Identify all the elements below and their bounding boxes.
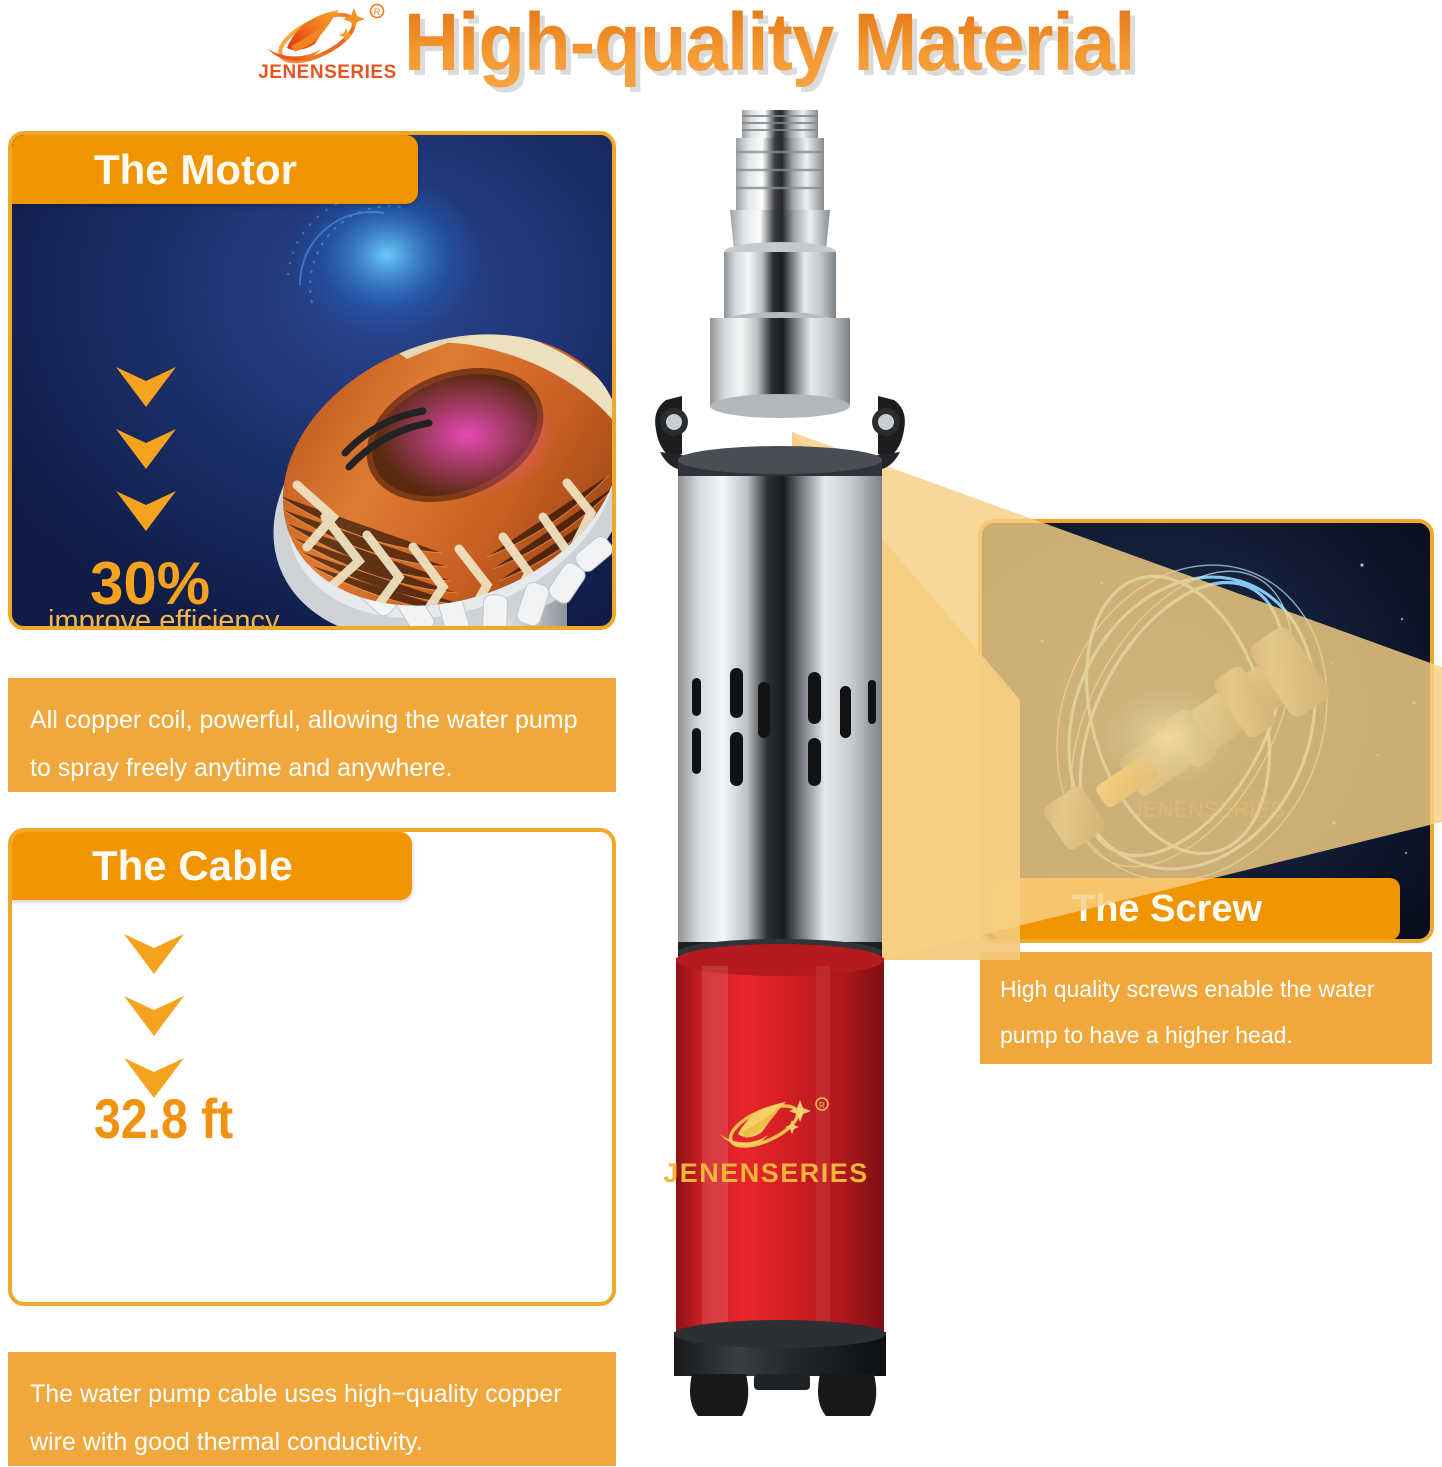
trademark-symbol: R [374, 7, 381, 17]
product-infographic: R JENENSERIES High-quality Material High… [0, 0, 1442, 1467]
caption-motor: All copper coil, powerful, allowing the … [8, 678, 616, 792]
black-base-feet [674, 1320, 886, 1416]
outlet-collar [710, 242, 850, 418]
panel-label-motor: The Motor [12, 135, 418, 204]
page-title: High-quality Material [404, 0, 1134, 90]
chevron-down-icon [114, 487, 178, 535]
product-pump-image: R JENENSERIES [630, 100, 980, 1430]
chevron-down-icon [114, 425, 178, 473]
panel-label-cable: The Cable [12, 832, 412, 900]
panel-cable: 32.8 ft The Cable [8, 828, 616, 1306]
svg-text:R: R [819, 1101, 825, 1110]
motor-stat-sublabel: improve efficiency [48, 605, 280, 630]
panel-label-screw: The Screw [992, 878, 1400, 940]
caption-screw: High quality screws enable the water pum… [980, 952, 1432, 1064]
photo-watermark: JENENSERIES [1132, 797, 1285, 822]
threaded-outlet [730, 110, 830, 250]
brand-logo: R JENENSERIES [255, 2, 400, 98]
panel-motor: 30% improve efficiency The Motor [8, 131, 616, 630]
panel-screw: JENENSERIES The Screw [978, 519, 1434, 943]
stainless-barrel [678, 446, 882, 965]
chevron-down-icon [114, 363, 178, 411]
page-header: R JENENSERIES High-quality Material High… [0, 0, 1442, 104]
chevron-down-icon [122, 930, 186, 978]
motor-stator-photo [237, 285, 616, 630]
cable-stat-value: 32.8 ft [94, 1086, 233, 1151]
red-motor-housing: R JENENSERIES [663, 944, 884, 1338]
brand-name: JENENSERIES [255, 62, 400, 84]
caption-cable: The water pump cable uses high−quality c… [8, 1352, 616, 1466]
product-body-logo-text: JENENSERIES [663, 1158, 869, 1188]
chevron-down-icon [122, 992, 186, 1040]
comet-swoosh-logo-icon: R [255, 2, 400, 68]
